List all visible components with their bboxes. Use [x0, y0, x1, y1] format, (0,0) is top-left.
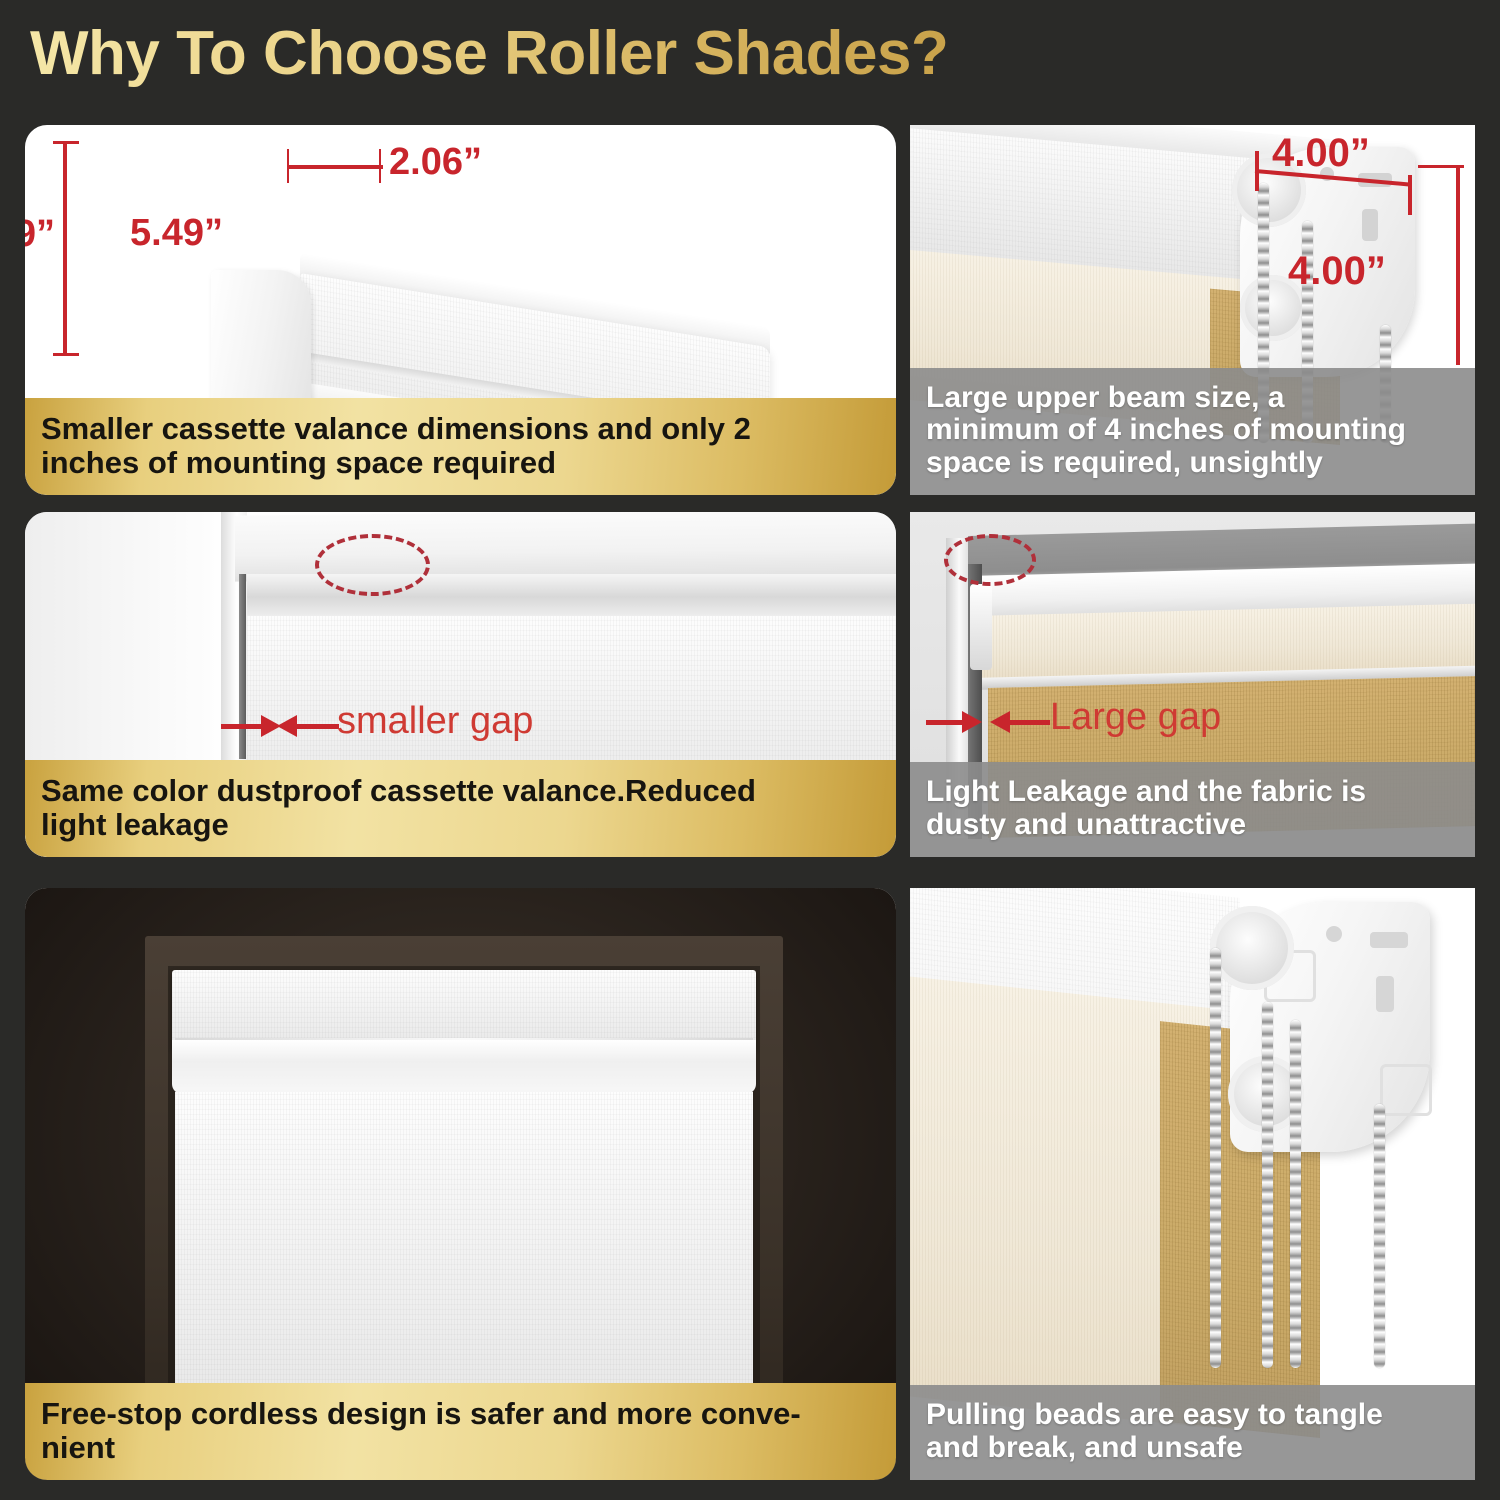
caption-line: nient	[41, 1431, 880, 1464]
panel-cordless-design[interactable]: Free-stop cordless design is safer and m…	[25, 888, 896, 1480]
dim-line-vertical	[63, 141, 67, 356]
caption-line: dusty and unattractive	[926, 809, 1459, 841]
bracket-hole	[1326, 926, 1342, 942]
caption-panel-5: Free-stop cordless design is safer and m…	[25, 1383, 896, 1480]
panel-pulling-beads[interactable]: Pulling beads are easy to tangle and bre…	[910, 888, 1475, 1480]
dim-line-horizontal	[287, 165, 383, 169]
highlight-ellipse	[944, 534, 1036, 586]
bracket-clip	[970, 584, 992, 670]
caption-line: inches of mounting space required	[41, 446, 880, 479]
panel-smaller-cassette[interactable]: 2.06” 5.49” Smaller cassette valance dim…	[25, 125, 896, 495]
caption-panel-4: Light Leakage and the fabric is dusty an…	[910, 762, 1475, 857]
gap-callout-label: Large gap	[1050, 696, 1221, 739]
dim-tick	[1418, 165, 1464, 168]
caption-panel-3: Same color dustproof cassette valance.Re…	[25, 760, 896, 857]
caption-line: and break, and unsafe	[926, 1432, 1459, 1464]
dimension-label-height: 5.49”	[25, 213, 55, 256]
arrow-head-left-icon	[277, 715, 297, 737]
bead-chain	[1290, 1020, 1301, 1368]
cassette-valance	[172, 970, 756, 1048]
bracket-emboss-icon	[1380, 1064, 1432, 1116]
bracket-slot	[1376, 976, 1394, 1012]
arrow-head-left-icon	[990, 711, 1010, 733]
caption-line: Free-stop cordless design is safer and m…	[41, 1397, 880, 1430]
caption-panel-2: Large upper beam size, a minimum of 4 in…	[910, 368, 1475, 495]
bead-chain	[1262, 1002, 1273, 1368]
dim-tick	[1408, 175, 1412, 215]
dimension-label-height: 4.00”	[1288, 249, 1386, 294]
caption-line: space is required, unsightly	[926, 447, 1459, 479]
panel-light-leakage[interactable]: Large gap Light Leakage and the fabric i…	[910, 512, 1475, 857]
dimension-label-width: 2.06”	[389, 141, 482, 184]
mounting-gap	[239, 574, 246, 759]
caption-line: Same color dustproof cassette valance.Re…	[41, 774, 880, 807]
arrow-shaft	[926, 720, 966, 725]
dim-tick	[53, 353, 79, 356]
gap-callout-label: smaller gap	[337, 700, 533, 743]
caption-line: Pulling beads are easy to tangle	[926, 1399, 1459, 1431]
bead-chain	[1374, 1104, 1385, 1368]
panel-large-upper-beam[interactable]: 4.00” 4.00” Large upper beam size, a min…	[910, 125, 1475, 495]
roller-wheel-icon	[1210, 906, 1294, 990]
caption-line: Smaller cassette valance dimensions and …	[41, 412, 880, 445]
highlight-ellipse	[315, 534, 430, 596]
caption-line: Large upper beam size, a	[926, 382, 1459, 414]
bracket-slot	[1370, 932, 1408, 948]
dimension-label-height-outer: 5.49”	[130, 212, 223, 255]
arrow-shaft	[1010, 720, 1050, 725]
caption-panel-6: Pulling beads are easy to tangle and bre…	[910, 1385, 1475, 1480]
caption-line: minimum of 4 inches of mounting	[926, 414, 1459, 446]
dim-line-vertical	[1456, 165, 1460, 365]
dimension-label-width: 4.00”	[1272, 131, 1370, 176]
caption-line: Light Leakage and the fabric is	[926, 776, 1459, 808]
bracket-slot	[1362, 209, 1378, 241]
caption-line: light leakage	[41, 808, 880, 841]
bead-chain	[1210, 948, 1221, 1368]
arrow-head-right-icon	[962, 711, 982, 733]
dim-tick	[53, 141, 79, 144]
arrow-shaft	[297, 724, 339, 729]
cassette-lip	[172, 1040, 756, 1094]
caption-panel-1: Smaller cassette valance dimensions and …	[25, 398, 896, 495]
panel-dustproof-valance[interactable]: smaller gap Same color dustproof cassett…	[25, 512, 896, 857]
page-title: Why To Choose Roller Shades?	[30, 18, 948, 89]
arrow-shaft	[221, 724, 265, 729]
roller-shade-fabric	[175, 1092, 753, 1410]
